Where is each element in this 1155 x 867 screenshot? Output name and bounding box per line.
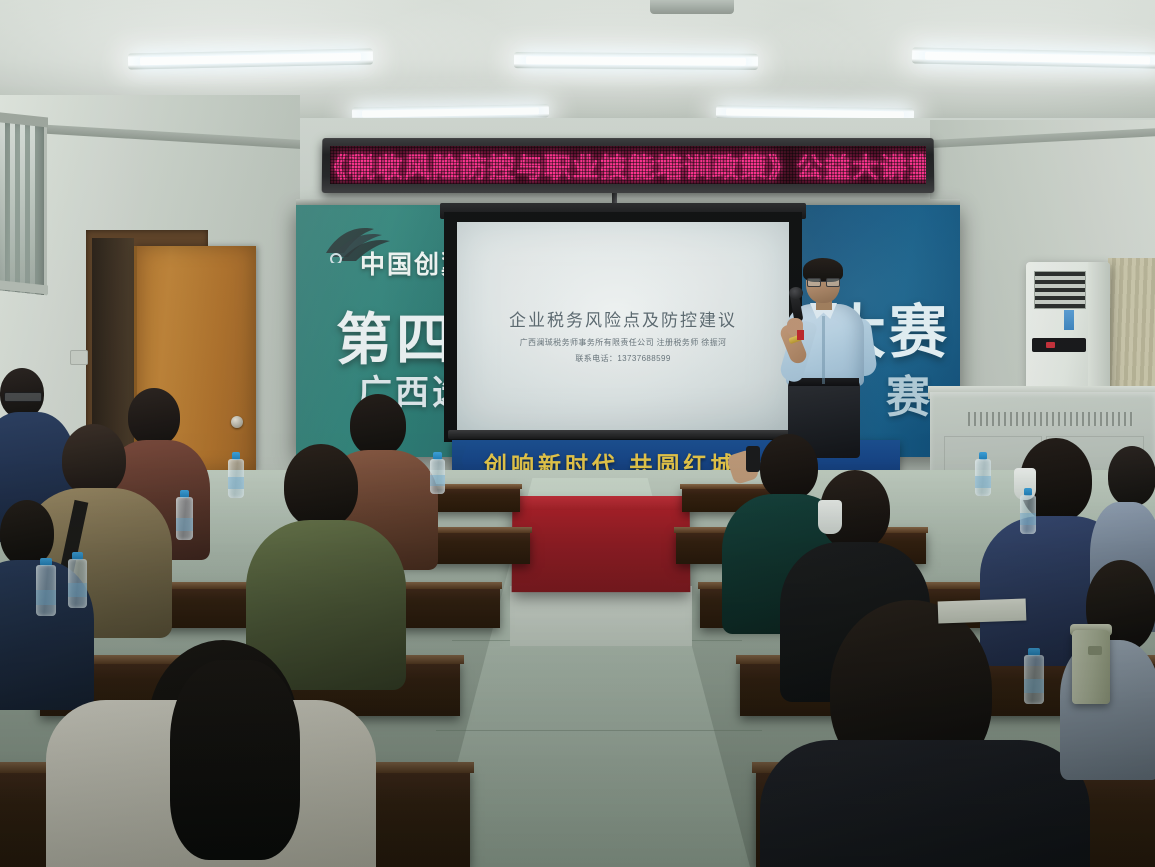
microphone-head-icon <box>789 287 803 299</box>
presenter-shirt-placket <box>822 316 825 384</box>
ac-label <box>1064 310 1074 330</box>
right-curtain <box>1108 258 1155 400</box>
presenter-badge <box>797 330 804 340</box>
water-bottle <box>68 552 87 608</box>
ceiling-light-2 <box>514 52 758 70</box>
water-bottle <box>430 452 445 494</box>
water-bottle <box>176 490 193 540</box>
long-hair <box>170 660 300 860</box>
slide-subtitle-line2: 联系电话：13737688599 <box>457 353 789 364</box>
water-bottle <box>36 558 56 616</box>
red-draped-table <box>512 500 691 592</box>
led-banner: 《税收风险防控与职业技能培训政策》公益大讲堂 <box>322 138 934 193</box>
water-bottle <box>228 452 244 498</box>
slide-subtitle-line1: 广西澜珹税务师事务所有限责任公司 注册税务师 徐振河 <box>457 337 789 348</box>
ac-grill <box>1034 271 1086 309</box>
projection-screen: 企业税务风险点及防控建议 广西澜珹税务师事务所有限责任公司 注册税务师 徐振河 … <box>457 222 789 432</box>
backdrop-right-subline: 赛 <box>886 361 932 425</box>
floor-tile-line <box>436 730 762 731</box>
left-window <box>0 118 47 295</box>
slide-title: 企业税务风险点及防控建议 <box>457 306 789 331</box>
ceiling-fixture <box>650 0 734 14</box>
water-bottle <box>1020 488 1036 534</box>
water-bottle <box>1024 648 1044 704</box>
ac-display-panel[interactable] <box>1032 338 1086 352</box>
air-conditioner <box>1026 262 1110 392</box>
table-shadow-area <box>510 586 692 646</box>
lecture-hall-photo: 中国创翼 第四届 广西选拔 大赛 赛 《税收风险防控与职业技能培训政策》公益大讲… <box>0 0 1155 867</box>
door-knob-icon[interactable] <box>231 416 243 428</box>
wings-logo-icon <box>322 223 408 263</box>
wall-socket <box>70 350 88 365</box>
thermos-flask <box>1072 630 1110 704</box>
ac-power-led-icon <box>1046 342 1055 348</box>
water-bottle <box>975 452 991 496</box>
glasses-icon <box>807 278 839 285</box>
paper-sheets <box>938 598 1027 623</box>
thermos-latch-icon <box>1088 646 1102 655</box>
led-banner-text: 《税收风险防控与职业技能培训政策》公益大讲堂 <box>330 146 926 184</box>
red-table-top <box>510 496 692 510</box>
phone-icon <box>746 446 760 472</box>
glasses-icon <box>4 392 42 402</box>
projector-screen-bottom-bar <box>448 430 800 439</box>
